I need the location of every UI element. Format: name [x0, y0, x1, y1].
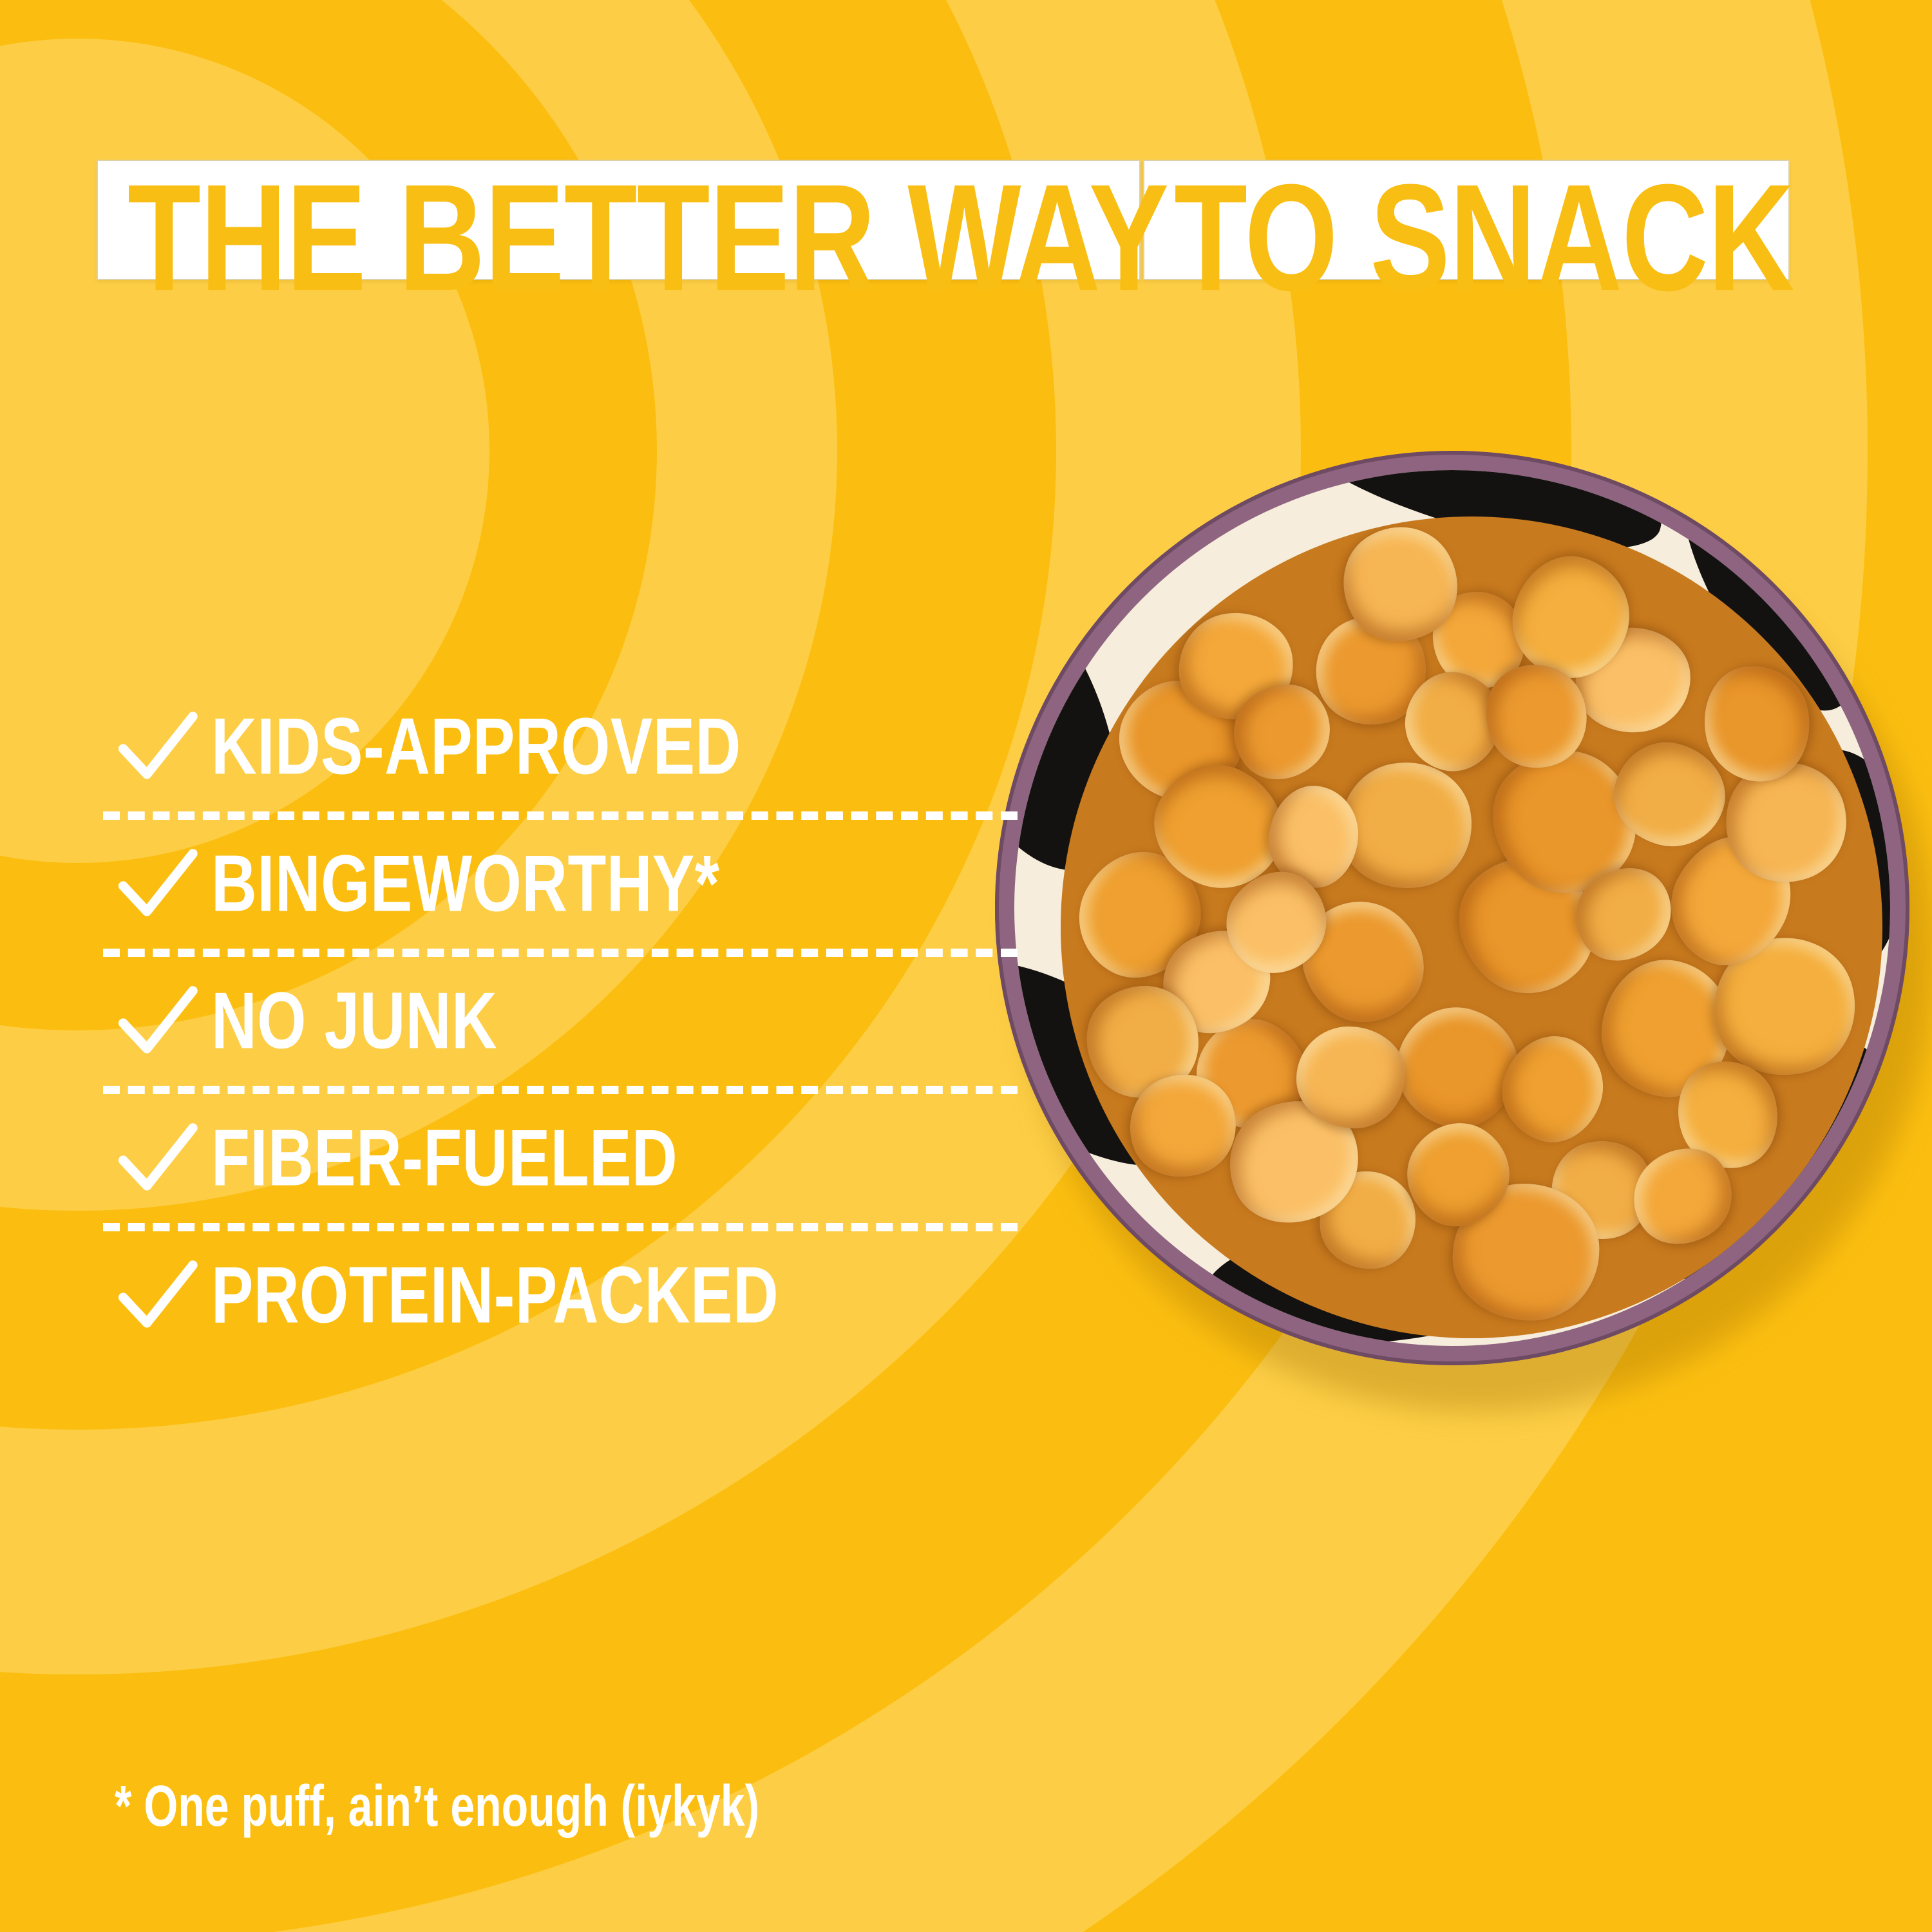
checklist-item-label: KIDS-APPROVED: [211, 707, 741, 788]
product-image: [995, 451, 1932, 1404]
checklist-item-label: BINGEWORTHY*: [211, 844, 719, 925]
check-icon: [115, 705, 200, 790]
checklist-divider: [103, 811, 1018, 820]
bowl: [995, 451, 1909, 1365]
checklist-item-label: NO JUNK: [211, 981, 497, 1062]
checklist-item: KIDS-APPROVED: [103, 683, 1018, 811]
headline-box-line2: TO SNACK: [1143, 160, 1790, 280]
checklist-item: FIBER-FUELED: [103, 1094, 1018, 1223]
benefits-checklist: KIDS-APPROVEDBINGEWORTHY*NO JUNKFIBER-FU…: [103, 683, 1018, 1360]
checklist-divider: [103, 1086, 1018, 1094]
promo-graphic: THE BETTER WAY TO SNACK KIDS-APPROVEDBIN…: [0, 0, 1932, 1932]
footnote: * One puff, ain’t enough (iykyk): [115, 1777, 759, 1835]
headline-line1: THE BETTER WAY: [128, 178, 1168, 299]
headline-line2: TO SNACK: [1174, 178, 1794, 299]
check-icon: [115, 1253, 200, 1338]
bowl-interior: [1014, 470, 1890, 1346]
check-icon: [115, 979, 200, 1064]
cheese-puffs: [1061, 516, 1882, 1338]
checklist-item: NO JUNK: [103, 957, 1018, 1086]
checklist-item: BINGEWORTHY*: [103, 820, 1018, 949]
headline-box-line1: THE BETTER WAY: [97, 160, 1141, 280]
checklist-divider: [103, 1223, 1018, 1231]
checklist-item-label: PROTEIN-PACKED: [211, 1256, 779, 1336]
checklist-item: PROTEIN-PACKED: [103, 1231, 1018, 1360]
checklist-divider: [103, 949, 1018, 957]
headline: THE BETTER WAY TO SNACK: [97, 160, 1790, 287]
check-icon: [115, 1116, 200, 1201]
check-icon: [115, 842, 200, 927]
checklist-item-label: FIBER-FUELED: [211, 1119, 677, 1199]
